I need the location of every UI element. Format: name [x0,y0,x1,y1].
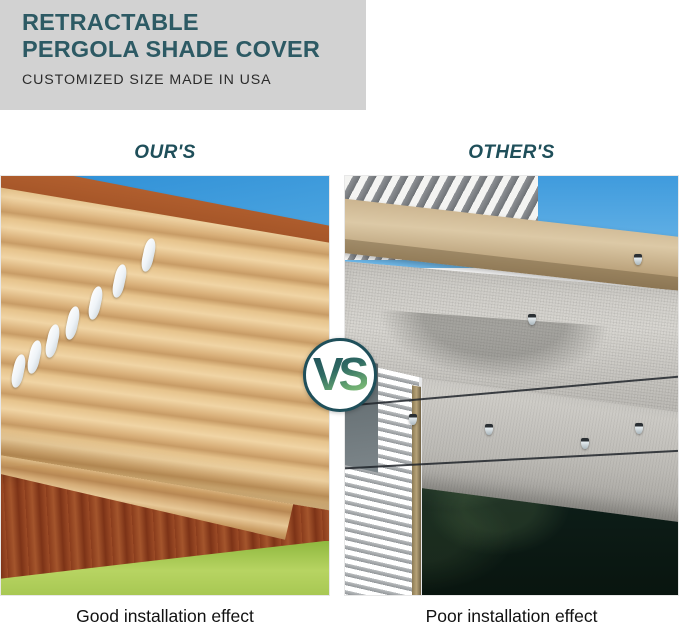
product-title-line-2: PERGOLA SHADE COVER [22,36,366,63]
caption-good-installation: Good installation effect [0,606,330,627]
caption-poor-installation: Poor installation effect [344,606,679,627]
product-subtitle: CUSTOMIZED SIZE MADE IN USA [22,72,366,88]
comparison-heading-ours: OUR'S [0,142,330,164]
header-banner: RETRACTABLE PERGOLA SHADE COVER CUSTOMIZ… [0,0,366,110]
photo-ours-good-installation [0,175,330,596]
vs-label: VS [313,351,367,397]
photo-others-poor-installation [344,175,679,596]
product-title-line-1: RETRACTABLE [22,9,366,36]
vs-badge: VS [303,338,377,412]
scene-poor-installation [345,176,678,595]
scene-good-installation [1,176,329,595]
comparison-heading-others: OTHER'S [344,142,679,164]
